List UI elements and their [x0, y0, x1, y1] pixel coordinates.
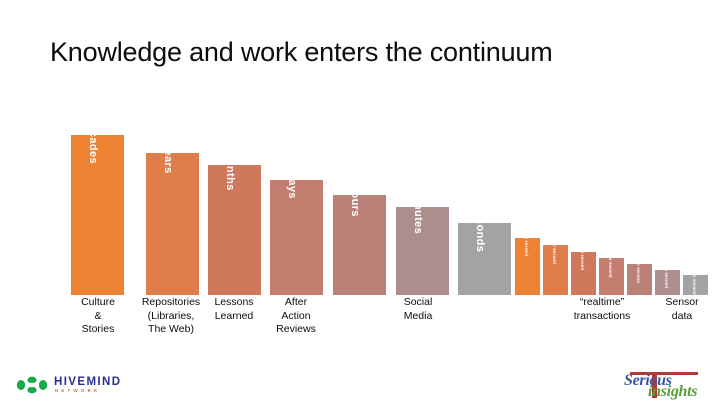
- hivemind-network-logo: HIVEMIND NETWORK: [16, 374, 136, 398]
- chart-bar-label: Months: [224, 165, 235, 191]
- chart-bar-label: Days: [286, 180, 297, 199]
- chart-bar-label: Decades: [87, 135, 98, 164]
- chart-bar-label: femto second: [691, 275, 695, 295]
- hivemind-subword: NETWORK: [55, 388, 100, 394]
- chart-category-label: “realtime”transactions: [560, 296, 644, 323]
- serious-insights-logo: Serious insights: [618, 370, 710, 400]
- chart-bar-label: Minutes: [412, 207, 423, 234]
- chart-bar: Decades: [71, 135, 124, 295]
- chart-category-labels: Culture&StoriesRepositories(Libraries,Th…: [0, 296, 720, 356]
- chart-category-label: Sensordata: [655, 296, 709, 323]
- chart-bar-label: deci second: [523, 238, 527, 256]
- chart-bar: Years: [146, 153, 199, 295]
- chart-category-label: LessonsLearned: [203, 296, 265, 323]
- bar-chart: DecadesYearsMonthsDaysHoursMinutesSecond…: [0, 120, 720, 295]
- hivemind-hexagon-mark: [16, 376, 50, 394]
- chart-category-label: SocialMedia: [387, 296, 449, 323]
- chart-bar-label: Years: [162, 153, 173, 174]
- chart-bar: femto second: [683, 275, 708, 295]
- chart-bar: centi second: [543, 245, 568, 295]
- chart-bar: Minutes: [396, 207, 449, 295]
- chart-bar-label: Seconds: [474, 223, 485, 252]
- chart-bar-label: milli second: [579, 252, 583, 270]
- chart-bar: micro second: [599, 258, 624, 295]
- chart-bar-label: Hours: [349, 195, 360, 217]
- chart-category-label: AfterActionReviews: [263, 296, 329, 337]
- chart-category-label: Culture&Stories: [66, 296, 130, 337]
- chart-bar: Seconds: [458, 223, 511, 295]
- chart-bar: Hours: [333, 195, 386, 295]
- chart-bar: Months: [208, 165, 261, 295]
- chart-bar: Days: [270, 180, 323, 295]
- serious-insights-word-insights: insights: [648, 384, 697, 400]
- hivemind-wordmark: HIVEMIND: [54, 376, 121, 388]
- chart-bar-label: centi second: [551, 245, 555, 264]
- chart-category-label: Repositories(Libraries,The Web): [131, 296, 211, 337]
- chart-bar-label: micro second: [607, 258, 611, 278]
- chart-bar: pico second: [655, 270, 680, 295]
- chart-bar-label: nano second: [635, 264, 639, 283]
- chart-bar: milli second: [571, 252, 596, 295]
- chart-bar: nano second: [627, 264, 652, 295]
- page-title: Knowledge and work enters the continuum: [50, 38, 553, 68]
- chart-bar-label: pico second: [663, 270, 667, 288]
- chart-bar: deci second: [515, 238, 540, 295]
